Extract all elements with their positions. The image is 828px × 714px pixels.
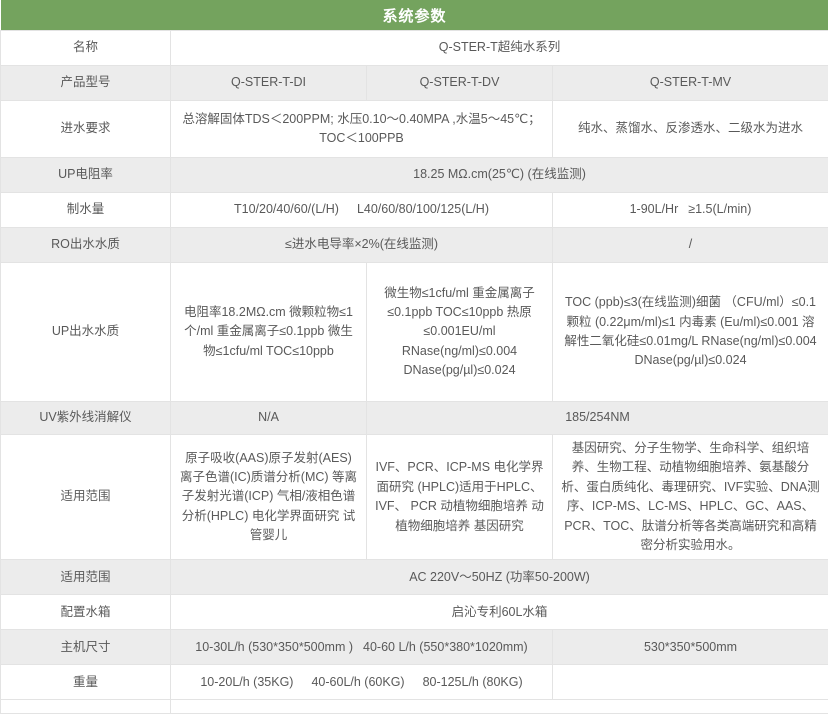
table-row-applications: 适用范围 原子吸收(AAS)原子发射(AES) 离子色谱(IC)质谱分析(MC)… [1, 435, 828, 560]
row-label-model: 产品型号 [1, 66, 171, 101]
table-title: 系统参数 [1, 0, 828, 31]
row-label-power: 适用范围 [1, 560, 171, 595]
table-row-model: 产品型号 Q-STER-T-DI Q-STER-T-DV Q-STER-T-MV [1, 66, 828, 101]
row-label-weight: 重量 [1, 665, 171, 700]
weight-value-c: 80-125L/h (80KG) [423, 675, 523, 689]
power-value: AC 220V〜50HZ (功率50-200W) [171, 560, 828, 595]
tail-cell-label [1, 700, 171, 714]
inflow-di-dv: 总溶解固体TDS＜200PPM; 水压0.10〜0.40MPA ,水温5〜45℃… [171, 101, 553, 158]
table-row-tank: 配置水箱 启沁专利60L水箱 [1, 595, 828, 630]
row-label-uv-unit: UV紫外线消解仪 [1, 402, 171, 435]
row-label-inflow: 进水要求 [1, 101, 171, 158]
row-label-up-quality: UP出水水质 [1, 263, 171, 402]
inflow-mv: 纯水、蒸馏水、反渗透水、二级水为进水 [553, 101, 828, 158]
dimensions-value-a: 10-30L/h (530*350*500mm ) [195, 640, 353, 654]
weight-mv [553, 665, 828, 700]
model-mv: Q-STER-T-MV [553, 66, 828, 101]
table-row-up-quality: UP出水水质 电阻率18.2MΩ.cm 微颗粒物≤1个/ml 重金属离子≤0.1… [1, 263, 828, 402]
up-quality-mv: TOC (ppb)≤3(在线监测)细菌 （CFU/ml）≤0.1 颗粒 (0.2… [553, 263, 828, 402]
capacity-mv-value-b: ≥1.5(L/min) [688, 202, 751, 216]
table-row-inflow: 进水要求 总溶解固体TDS＜200PPM; 水压0.10〜0.40MPA ,水温… [1, 101, 828, 158]
row-label-up-resistivity: UP电阻率 [1, 158, 171, 193]
row-label-tank: 配置水箱 [1, 595, 171, 630]
row-label-ro-quality: RO出水水质 [1, 228, 171, 263]
dimensions-value-b: 40-60 L/h (550*380*1020mm) [363, 640, 528, 654]
capacity-di-value: T10/20/40/60/(L/H) [234, 202, 339, 216]
applications-mv: 基因研究、分子生物学、生命科学、组织培养、生物工程、动植物细胞培养、氨基酸分析、… [553, 435, 828, 560]
table-row-capacity: 制水量 T10/20/40/60/(L/H)L40/60/80/100/125(… [1, 193, 828, 228]
row-label-name: 名称 [1, 31, 171, 66]
dimensions-mv: 530*350*500mm [553, 630, 828, 665]
weight-di-dv: 10-20L/h (35KG)40-60L/h (60KG)80-125L/h … [171, 665, 553, 700]
row-value-name: Q-STER-T超纯水系列 [171, 31, 828, 66]
table-row-uv-unit: UV紫外线消解仪 N/A 185/254NM [1, 402, 828, 435]
up-quality-dv: 微生物≤1cfu/ml 重金属离子≤0.1ppb TOC≤10ppb 热原≤0.… [367, 263, 553, 402]
dimensions-di-dv: 10-30L/h (530*350*500mm )40-60 L/h (550*… [171, 630, 553, 665]
up-resistivity-value: 18.25 MΩ.cm(25℃) (在线监测) [171, 158, 828, 193]
row-label-capacity: 制水量 [1, 193, 171, 228]
capacity-di-dv: T10/20/40/60/(L/H)L40/60/80/100/125(L/H) [171, 193, 553, 228]
row-label-dimensions: 主机尺寸 [1, 630, 171, 665]
table-row-up-resistivity: UP电阻率 18.25 MΩ.cm(25℃) (在线监测) [1, 158, 828, 193]
table-row-name: 名称 Q-STER-T超纯水系列 [1, 31, 828, 66]
row-label-applications: 适用范围 [1, 435, 171, 560]
applications-dv: IVF、PCR、ICP-MS 电化学界面研究 (HPLC)适用于HPLC、IVF… [367, 435, 553, 560]
model-di: Q-STER-T-DI [171, 66, 367, 101]
tail-cell-value [171, 700, 828, 714]
capacity-dv-value: L40/60/80/100/125(L/H) [357, 202, 489, 216]
weight-value-a: 10-20L/h (35KG) [200, 675, 293, 689]
ro-quality-di-dv: ≤进水电导率×2%(在线监测) [171, 228, 553, 263]
table-row-weight: 重量 10-20L/h (35KG)40-60L/h (60KG)80-125L… [1, 665, 828, 700]
table-row-power: 适用范围 AC 220V〜50HZ (功率50-200W) [1, 560, 828, 595]
table-title-row: 系统参数 [1, 0, 828, 31]
capacity-mv: 1-90L/Hr≥1.5(L/min) [553, 193, 828, 228]
ro-quality-mv: / [553, 228, 828, 263]
table-row-tail [1, 700, 828, 714]
table-row-ro-quality: RO出水水质 ≤进水电导率×2%(在线监测) / [1, 228, 828, 263]
uv-unit-di: N/A [171, 402, 367, 435]
up-quality-di: 电阻率18.2MΩ.cm 微颗粒物≤1个/ml 重金属离子≤0.1ppb 微生物… [171, 263, 367, 402]
uv-unit-dv-mv: 185/254NM [367, 402, 828, 435]
system-parameters-table: 系统参数 名称 Q-STER-T超纯水系列 产品型号 Q-STER-T-DI Q… [0, 0, 828, 714]
weight-value-b: 40-60L/h (60KG) [311, 675, 404, 689]
tank-value: 启沁专利60L水箱 [171, 595, 828, 630]
model-dv: Q-STER-T-DV [367, 66, 553, 101]
applications-di: 原子吸收(AAS)原子发射(AES) 离子色谱(IC)质谱分析(MC) 等离子发… [171, 435, 367, 560]
capacity-mv-value-a: 1-90L/Hr [630, 202, 679, 216]
table-row-dimensions: 主机尺寸 10-30L/h (530*350*500mm )40-60 L/h … [1, 630, 828, 665]
